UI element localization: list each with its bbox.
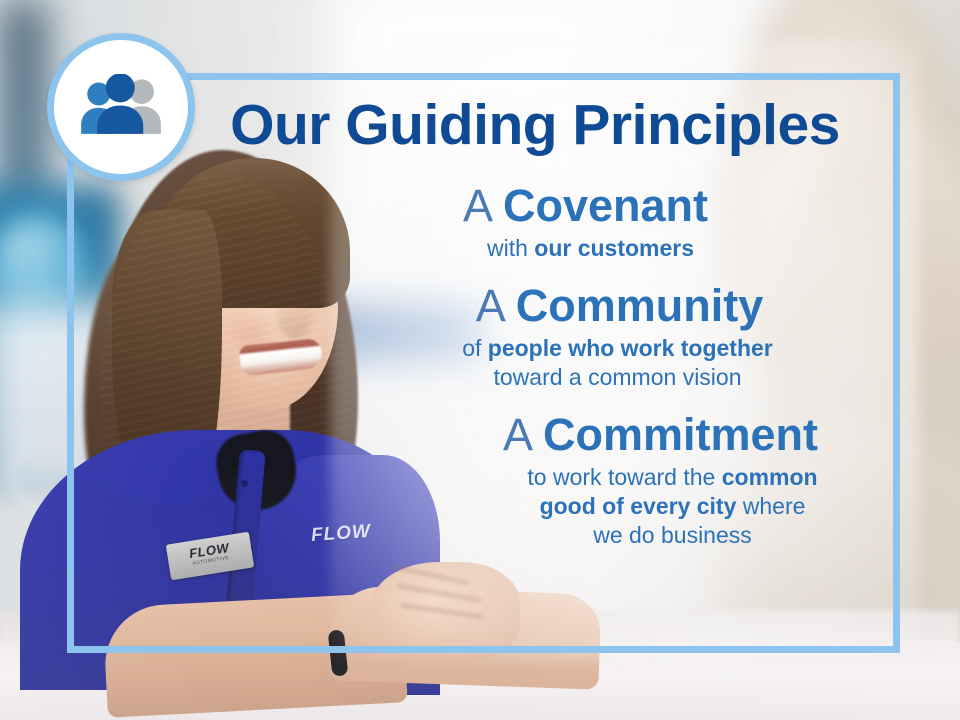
emphasis-text: good of every city bbox=[540, 493, 737, 519]
principle-keyword: Covenant bbox=[503, 180, 708, 231]
principle-detail-line: with our customers bbox=[300, 234, 881, 263]
principle-detail: to work toward the common good of every … bbox=[300, 463, 895, 549]
guiding-principles-graphic: FLOW FLOW AUTOMOTIVE Our Guidin bbox=[0, 0, 960, 720]
people-group-icon bbox=[75, 74, 167, 140]
principle-detail-line: to work toward the common bbox=[450, 463, 895, 492]
principle-community: A Community of people who work together … bbox=[300, 282, 895, 391]
page-title: Our Guiding Principles bbox=[210, 96, 860, 154]
emphasis-text: people who work together bbox=[488, 335, 773, 361]
principle-covenant: A Covenant with our customers bbox=[300, 182, 895, 262]
principle-detail-line: of people who work together bbox=[340, 334, 895, 363]
principle-detail-line: toward a common vision bbox=[340, 363, 895, 392]
principle-detail: with our customers bbox=[300, 234, 895, 263]
plain-text: where bbox=[736, 493, 805, 519]
principle-commitment: A Commitment to work toward the common g… bbox=[300, 411, 895, 549]
principles-list: A Covenant with our customers A Communit… bbox=[300, 182, 895, 549]
plain-text: with bbox=[487, 235, 534, 261]
emphasis-text: common bbox=[722, 464, 818, 490]
plain-text: to work toward the bbox=[527, 464, 721, 490]
principle-detail-line: good of every city where bbox=[450, 492, 895, 521]
plain-text: of bbox=[462, 335, 488, 361]
principle-heading: A Community bbox=[300, 282, 895, 331]
principle-heading: A Covenant bbox=[300, 182, 895, 231]
people-badge bbox=[47, 33, 195, 181]
principle-detail-line: we do business bbox=[450, 521, 895, 550]
principle-keyword: Commitment bbox=[543, 409, 818, 460]
principle-keyword: Community bbox=[516, 280, 764, 331]
emphasis-text: our customers bbox=[534, 235, 694, 261]
principle-article: A bbox=[503, 409, 543, 460]
plain-text: we do business bbox=[593, 522, 752, 548]
principle-detail: of people who work together toward a com… bbox=[300, 334, 895, 392]
principle-article: A bbox=[463, 180, 503, 231]
principle-article: A bbox=[476, 280, 516, 331]
principle-heading: A Commitment bbox=[300, 411, 895, 460]
plain-text: toward a common vision bbox=[494, 364, 742, 390]
